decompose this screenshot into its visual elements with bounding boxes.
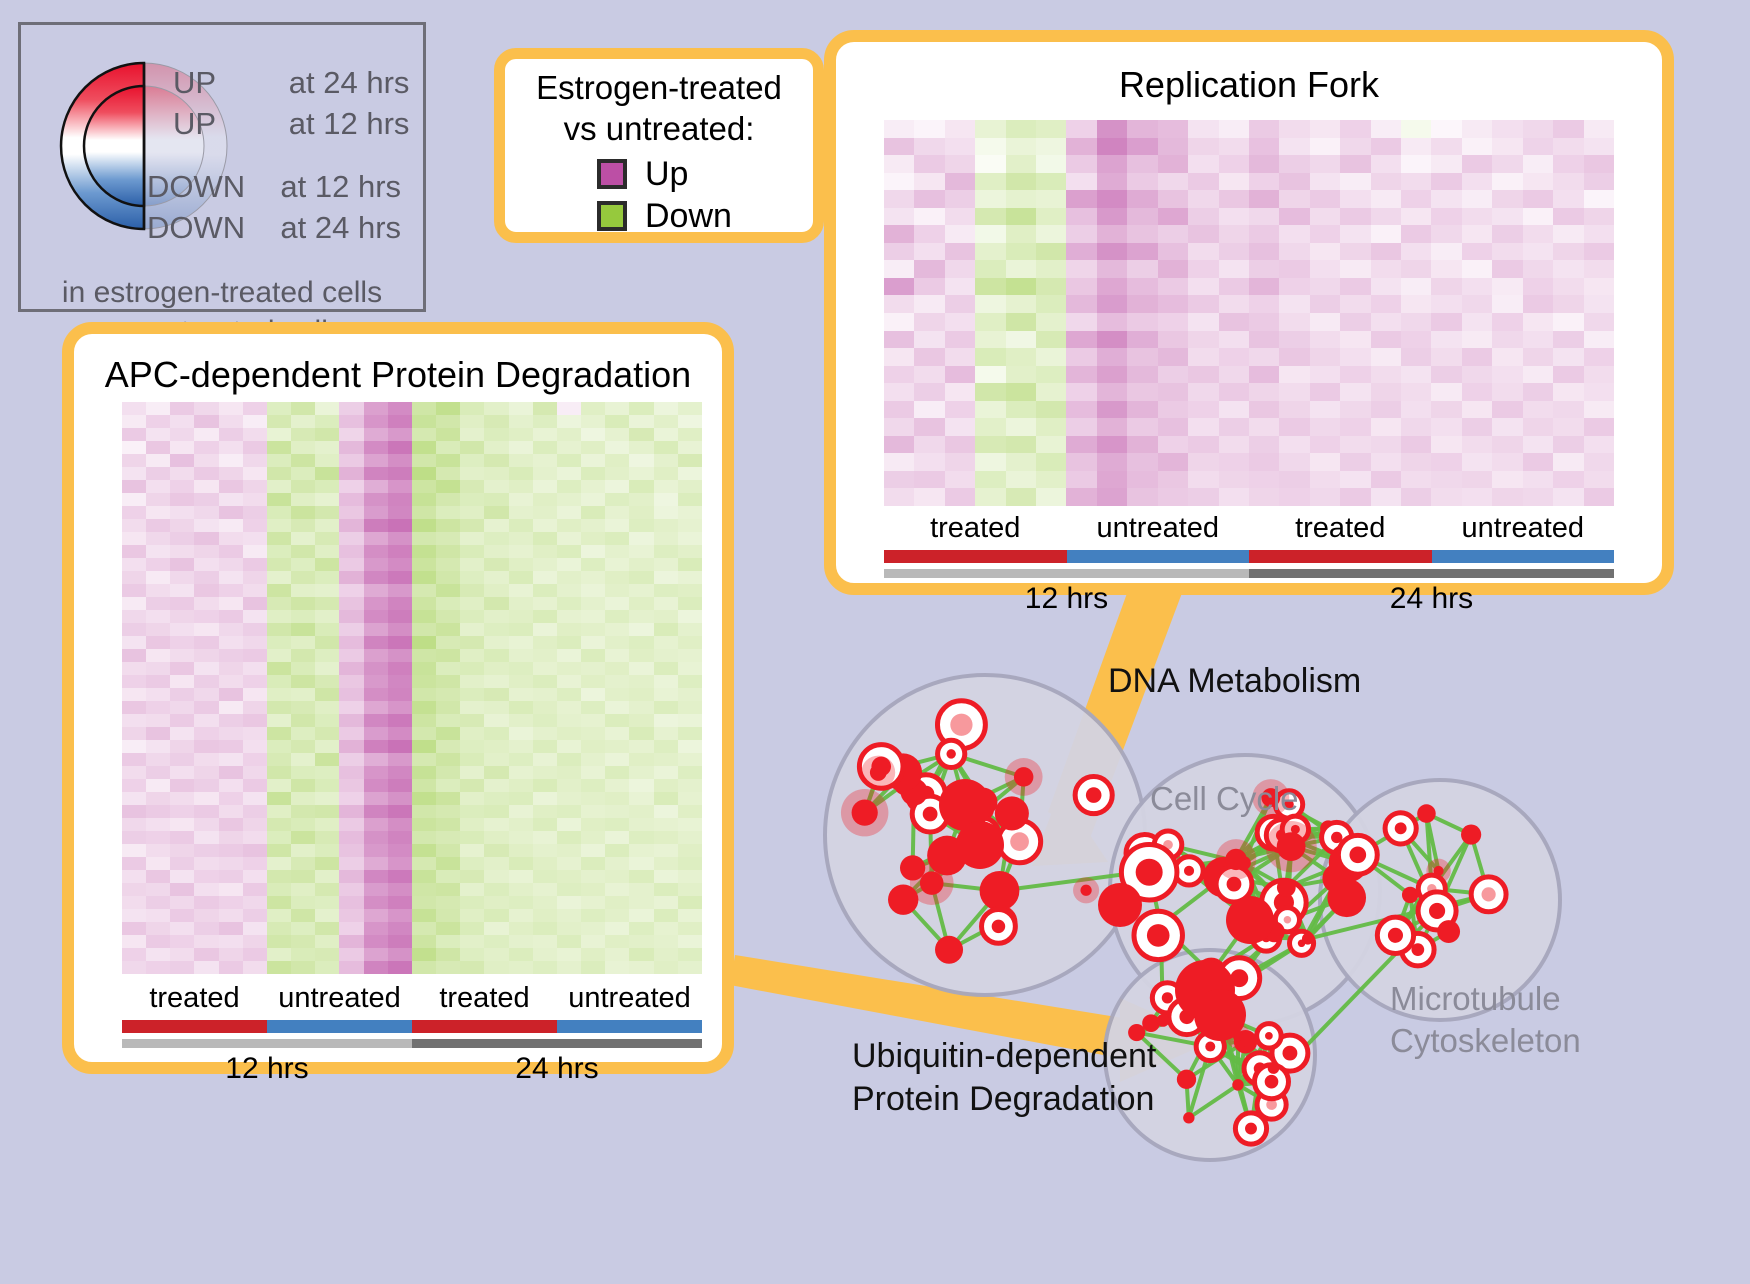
heatmap-cell — [388, 454, 412, 467]
heatmap-cell — [557, 428, 581, 441]
heatmap-cell — [678, 584, 702, 597]
heatmap-cell — [146, 909, 170, 922]
heatmap-cell — [291, 402, 315, 415]
heatmap-cell — [1219, 383, 1249, 401]
heatmap-cell — [436, 714, 460, 727]
heatmap-cell — [460, 896, 484, 909]
heatmap-cell — [194, 714, 218, 727]
heatmap-cell — [170, 701, 194, 714]
heatmap-cell — [364, 571, 388, 584]
heatmap-cell — [914, 488, 944, 506]
heatmap-cell — [509, 402, 533, 415]
heatmap-cell — [460, 883, 484, 896]
heatmap-cell — [315, 532, 339, 545]
network-node — [1388, 928, 1403, 943]
heatmap-cell — [654, 909, 678, 922]
heatmap-cell — [315, 584, 339, 597]
cluster-label-ubiquitin: Ubiquitin-dependent Protein Degradation — [852, 1035, 1156, 1121]
heatmap-cell — [533, 844, 557, 857]
heatmap-cell — [1523, 295, 1553, 313]
heatmap-cell — [460, 623, 484, 636]
heatmap-cell — [436, 545, 460, 558]
heatmap-cell — [194, 753, 218, 766]
heatmap-cell — [605, 480, 629, 493]
heatmap-cell — [1279, 331, 1309, 349]
network-node — [1136, 859, 1163, 886]
heatmap-cell — [581, 701, 605, 714]
heatmap-cell — [484, 597, 508, 610]
heatmap-cell — [654, 610, 678, 623]
heatmap-cell — [1066, 295, 1096, 313]
heatmap-cell — [605, 584, 629, 597]
heatmap-cell — [1158, 348, 1188, 366]
heatmap-cell — [605, 740, 629, 753]
treatment-bar-segment — [1067, 550, 1250, 563]
heatmap-cell — [1066, 331, 1096, 349]
heatmap-cell — [412, 818, 436, 831]
heatmap-cell — [654, 519, 678, 532]
heatmap-cell — [1431, 243, 1461, 261]
heatmap-cell — [557, 909, 581, 922]
heatmap-cell — [1553, 120, 1583, 138]
heatmap-cell — [219, 493, 243, 506]
heatmap-cell — [1401, 436, 1431, 454]
heatmap-cell — [533, 779, 557, 792]
heatmap-cell — [146, 558, 170, 571]
heatmap-cell — [1066, 190, 1096, 208]
heatmap-cell — [533, 896, 557, 909]
heatmap-cell — [1127, 278, 1157, 296]
heatmap-cell — [267, 883, 291, 896]
heatmap-cell — [1127, 190, 1157, 208]
heatmap-cell — [884, 488, 914, 506]
heatmap-cell — [412, 727, 436, 740]
heatmap-cell — [629, 610, 653, 623]
network-node — [1282, 1046, 1297, 1061]
heatmap-cell — [339, 753, 363, 766]
heatmap-cell — [1371, 488, 1401, 506]
heatmap-cell — [1431, 278, 1461, 296]
heatmap-cell — [1462, 295, 1492, 313]
heatmap-cell — [146, 480, 170, 493]
heatmap-cell — [509, 896, 533, 909]
heatmap-cell — [1371, 366, 1401, 384]
heatmap-cell — [339, 831, 363, 844]
heatmap-cell — [484, 571, 508, 584]
heatmap-cell — [1036, 278, 1066, 296]
heatmap-cell — [484, 532, 508, 545]
network-node — [1014, 767, 1033, 786]
heatmap-cell — [1097, 418, 1127, 436]
heatmap-cell — [412, 519, 436, 532]
heatmap-cell — [533, 818, 557, 831]
heatmap-cell — [1158, 225, 1188, 243]
heatmap-cell — [629, 441, 653, 454]
heatmap-cell — [267, 610, 291, 623]
heatmap-cell — [533, 714, 557, 727]
heatmap-cell — [884, 471, 914, 489]
heatmap-cell — [1219, 120, 1249, 138]
heatmap-cell — [1584, 401, 1614, 419]
heatmap-cell — [1553, 190, 1583, 208]
heatmap-cell — [364, 545, 388, 558]
heatmap-cell — [339, 766, 363, 779]
heatmap-cell — [1279, 260, 1309, 278]
heatmap-cell — [1492, 418, 1522, 436]
key-item-up: Up — [597, 157, 688, 191]
heatmap-cell — [581, 441, 605, 454]
heatmap-cell — [654, 961, 678, 974]
heatmap-cell — [914, 120, 944, 138]
heatmap-cell — [460, 961, 484, 974]
heatmap-cell — [364, 740, 388, 753]
heatmap-cell — [315, 792, 339, 805]
heatmap-cell — [975, 243, 1005, 261]
heatmap-cell — [557, 935, 581, 948]
heatmap-cell — [884, 418, 914, 436]
heatmap-cell — [1371, 436, 1401, 454]
heatmap-cell — [914, 383, 944, 401]
heatmap-cell — [557, 584, 581, 597]
heatmap-cell — [122, 493, 146, 506]
heatmap-cell — [654, 558, 678, 571]
heatmap-cell — [194, 415, 218, 428]
heatmap-cell — [388, 883, 412, 896]
heatmap-cell — [412, 636, 436, 649]
heatmap-cell — [1066, 401, 1096, 419]
heatmap-cell — [654, 454, 678, 467]
heatmap-cell — [315, 948, 339, 961]
heatmap-cell — [170, 766, 194, 779]
heatmap-cell — [364, 467, 388, 480]
heatmap-cell — [1340, 436, 1370, 454]
heatmap-cell — [557, 753, 581, 766]
heatmap-cell — [1523, 488, 1553, 506]
heatmap-cell — [170, 558, 194, 571]
heatmap-cell — [267, 584, 291, 597]
heatmap-cell — [678, 805, 702, 818]
heatmap-cell — [629, 805, 653, 818]
heatmap-cell — [412, 896, 436, 909]
heatmap-cell — [1066, 383, 1096, 401]
heatmap-cell — [315, 519, 339, 532]
network-node — [1265, 1075, 1279, 1089]
heatmap-cell — [509, 948, 533, 961]
heatmap-cell — [654, 727, 678, 740]
heatmap-cell — [1584, 313, 1614, 331]
heatmap-cell — [1310, 331, 1340, 349]
heatmap-cell — [1127, 313, 1157, 331]
heatmap-cell — [1492, 120, 1522, 138]
heatmap-cell — [1097, 208, 1127, 226]
heatmap-cell — [1584, 260, 1614, 278]
heatmap-cell — [1371, 173, 1401, 191]
heatmap-cell — [1127, 155, 1157, 173]
heatmap-cell — [460, 415, 484, 428]
heatmap-cell — [1158, 208, 1188, 226]
heatmap-cell — [243, 805, 267, 818]
heatmap-cell — [339, 792, 363, 805]
heatmap-cell — [170, 610, 194, 623]
heatmap-cell — [243, 844, 267, 857]
heatmap-cell — [1006, 348, 1036, 366]
network-node — [1417, 804, 1436, 823]
heatmap-cell — [243, 909, 267, 922]
heatmap-cell — [884, 295, 914, 313]
heatmap-cell — [509, 610, 533, 623]
network-node — [1080, 885, 1091, 896]
heatmap-cell — [945, 155, 975, 173]
heatmap-cell — [219, 545, 243, 558]
heatmap-cell — [267, 805, 291, 818]
heatmap-cell — [1249, 418, 1279, 436]
heatmap-cell — [1310, 401, 1340, 419]
heatmap-cell — [1188, 208, 1218, 226]
heatmap-cell — [146, 805, 170, 818]
heatmap-cell — [122, 506, 146, 519]
heatmap-cell — [364, 415, 388, 428]
network-node — [1157, 1014, 1170, 1027]
heatmap-cell — [1492, 138, 1522, 156]
heatmap-cell — [945, 488, 975, 506]
heatmap-cell — [484, 636, 508, 649]
heatmap-cell — [388, 935, 412, 948]
heatmap-cell — [629, 662, 653, 675]
network-node — [1225, 849, 1246, 870]
heatmap-cell — [146, 740, 170, 753]
heatmap-cell — [194, 428, 218, 441]
heatmap-cell — [581, 727, 605, 740]
heatmap-cell — [884, 401, 914, 419]
heatmap-cell — [945, 260, 975, 278]
heatmap-cell — [460, 779, 484, 792]
heatmap-cell — [1431, 401, 1461, 419]
heatmap-cell — [388, 753, 412, 766]
heatmap-cell — [1492, 278, 1522, 296]
heatmap-cell — [914, 418, 944, 436]
heatmap-cell — [291, 753, 315, 766]
heatmap-cell — [460, 857, 484, 870]
heatmap-cell — [219, 727, 243, 740]
heatmap-cell — [484, 402, 508, 415]
heatmap-cell — [678, 766, 702, 779]
heatmap-cell — [170, 896, 194, 909]
heatmap-cell — [484, 454, 508, 467]
heatmap-cell — [388, 870, 412, 883]
heatmap-cell — [1097, 436, 1127, 454]
heatmap-cell — [1036, 313, 1066, 331]
heatmap-cell — [581, 766, 605, 779]
heatmap-cell — [1036, 348, 1066, 366]
heatmap-cell — [629, 779, 653, 792]
network-node — [1327, 878, 1366, 917]
heatmap-cell — [605, 649, 629, 662]
network-node — [995, 796, 1029, 830]
heatmap-cell — [678, 727, 702, 740]
heatmap-cell — [291, 428, 315, 441]
heatmap-cell — [243, 519, 267, 532]
heatmap-cell — [1340, 383, 1370, 401]
heatmap-cell — [1006, 278, 1036, 296]
heatmap-cell — [170, 636, 194, 649]
heatmap-cell — [629, 428, 653, 441]
heatmap-cell — [267, 649, 291, 662]
heatmap-cell — [629, 740, 653, 753]
heatmap-cell — [146, 428, 170, 441]
heatmap-cell — [194, 558, 218, 571]
heatmap-cell — [1492, 225, 1522, 243]
heatmap-cell — [219, 636, 243, 649]
heatmap-cell — [460, 727, 484, 740]
heatmap-cell — [460, 467, 484, 480]
heatmap-cell — [219, 818, 243, 831]
heatmap-cell — [1066, 208, 1096, 226]
heatmap-cell — [1279, 190, 1309, 208]
heatmap-cell — [605, 883, 629, 896]
heatmap-cell — [1006, 155, 1036, 173]
heatmap-cell — [1127, 366, 1157, 384]
heatmap-cell — [291, 740, 315, 753]
heatmap-cell — [557, 818, 581, 831]
heatmap-cell — [1188, 190, 1218, 208]
heatmap-cell — [581, 428, 605, 441]
heatmap-cell — [1097, 331, 1127, 349]
heatmap-cell — [122, 961, 146, 974]
heatmap-cell — [605, 532, 629, 545]
heatmap-cell — [1127, 208, 1157, 226]
heatmap-cell — [315, 779, 339, 792]
heatmap-cell — [436, 493, 460, 506]
heatmap-cell — [484, 415, 508, 428]
heatmap-cell — [291, 480, 315, 493]
heatmap-cell — [122, 610, 146, 623]
heatmap-cell — [1310, 453, 1340, 471]
heatmap-cell — [412, 844, 436, 857]
heatmap-cell — [581, 753, 605, 766]
heatmap-cell — [1158, 331, 1188, 349]
heatmap-cell — [1066, 225, 1096, 243]
cluster-label-microtubule: Microtubule Cytoskeleton — [1390, 978, 1581, 1062]
heatmap-cell — [1340, 120, 1370, 138]
heatmap-cell — [1249, 155, 1279, 173]
heatmap-cell — [291, 519, 315, 532]
heatmap-cell — [1127, 331, 1157, 349]
heatmap-cell — [146, 753, 170, 766]
heatmap-apc — [122, 402, 702, 974]
heatmap-cell — [243, 454, 267, 467]
heatmap-cell — [484, 779, 508, 792]
heatmap-cell — [1188, 436, 1218, 454]
heatmap-cell — [654, 623, 678, 636]
timepoint-bar-segment — [884, 569, 1249, 578]
heatmap-cell — [1431, 488, 1461, 506]
heatmap-cell — [219, 428, 243, 441]
heatmap-cell — [509, 909, 533, 922]
heatmap-cell — [1279, 155, 1309, 173]
heatmap-cell — [914, 243, 944, 261]
heatmap-cell — [557, 662, 581, 675]
heatmap-cell — [339, 415, 363, 428]
heatmap-cell — [678, 571, 702, 584]
key-title: Estrogen-treated vs untreated: — [505, 67, 813, 149]
heatmap-cell — [315, 610, 339, 623]
heatmap-cell — [412, 558, 436, 571]
heatmap-cell — [460, 571, 484, 584]
legend-footer-line1: in estrogen-treated cells — [21, 273, 423, 312]
heatmap-cell — [581, 415, 605, 428]
heatmap-cell — [267, 831, 291, 844]
heatmap-cell — [629, 922, 653, 935]
heatmap-cell — [146, 701, 170, 714]
heatmap-cell — [364, 948, 388, 961]
heatmap-cell — [654, 753, 678, 766]
heatmap-cell — [1249, 278, 1279, 296]
network-svg — [790, 600, 1750, 1279]
heatmap-cell — [629, 506, 653, 519]
heatmap-cell — [629, 493, 653, 506]
heatmap-cell — [388, 714, 412, 727]
heatmap-cell — [1006, 488, 1036, 506]
heatmap-cell — [412, 701, 436, 714]
heatmap-cell — [484, 428, 508, 441]
heatmap-cell — [1158, 471, 1188, 489]
heatmap-cell — [388, 649, 412, 662]
heatmap-cell — [267, 545, 291, 558]
heatmap-cell — [1188, 401, 1218, 419]
heatmap-cell — [388, 532, 412, 545]
heatmap-cell — [678, 896, 702, 909]
heatmap-cell — [1066, 120, 1096, 138]
heatmap-cell — [170, 922, 194, 935]
heatmap-cell — [1340, 471, 1370, 489]
heatmap-cell — [146, 870, 170, 883]
heatmap-cell — [219, 467, 243, 480]
heatmap-cell — [1188, 260, 1218, 278]
heatmap-cell — [605, 610, 629, 623]
heatmap-cell — [267, 402, 291, 415]
heatmap-cell — [629, 545, 653, 558]
heatmap-cell — [1462, 453, 1492, 471]
heatmap-cell — [170, 935, 194, 948]
heatmap-cell — [1553, 225, 1583, 243]
heatmap-cell — [557, 688, 581, 701]
treatment-bar-segment — [884, 550, 1067, 563]
heatmap-cell — [678, 922, 702, 935]
heatmap-cell — [484, 519, 508, 532]
heatmap-cell — [581, 649, 605, 662]
heatmap-cell — [1492, 173, 1522, 191]
heatmap-cell — [1431, 260, 1461, 278]
heatmap-cell — [914, 278, 944, 296]
heatmap-cell — [194, 454, 218, 467]
heatmap-cell — [1371, 225, 1401, 243]
heatmap-cell — [315, 597, 339, 610]
heatmap-cell — [170, 675, 194, 688]
heatmap-cell — [654, 766, 678, 779]
heatmap-cell — [436, 636, 460, 649]
heatmap-cell — [364, 688, 388, 701]
heatmap-cell — [1310, 471, 1340, 489]
heatmap-cell — [1127, 418, 1157, 436]
heatmap-cell — [945, 120, 975, 138]
network-node — [1482, 887, 1496, 901]
heatmap-cell — [146, 545, 170, 558]
heatmap-cell — [1006, 225, 1036, 243]
heatmap-cell — [315, 844, 339, 857]
heatmap-cell — [1523, 225, 1553, 243]
heatmap-cell — [1584, 471, 1614, 489]
heatmap-cell — [1371, 295, 1401, 313]
